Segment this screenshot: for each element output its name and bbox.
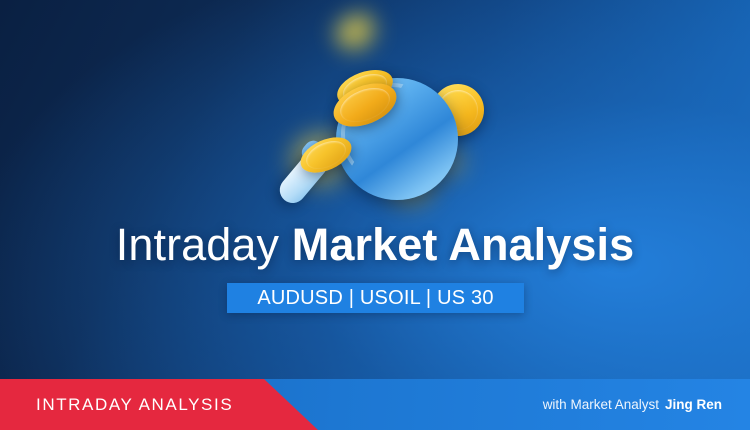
title-light-part: Intraday: [116, 219, 279, 270]
magnifying-glass-illustration: [280, 6, 490, 201]
byline-prefix: with Market Analyst: [543, 397, 659, 412]
intraday-market-analysis-banner: Intraday Market Analysis AUDUSD | USOIL …: [0, 0, 750, 430]
page-title: Intraday Market Analysis: [0, 222, 750, 267]
category-label: INTRADAY ANALYSIS: [36, 379, 233, 430]
instrument-pairs-label: AUDUSD | USOIL | US 30: [257, 287, 493, 310]
title-bold-part: Market Analysis: [292, 219, 635, 270]
instrument-pairs-badge: AUDUSD | USOIL | US 30: [227, 283, 524, 313]
analyst-name: Jing Ren: [665, 397, 722, 412]
bottom-bar: INTRADAY ANALYSIS with Market Analyst Ji…: [0, 379, 750, 430]
byline: with Market Analyst Jing Ren: [543, 379, 722, 430]
blurred-coin-icon: [331, 8, 386, 56]
